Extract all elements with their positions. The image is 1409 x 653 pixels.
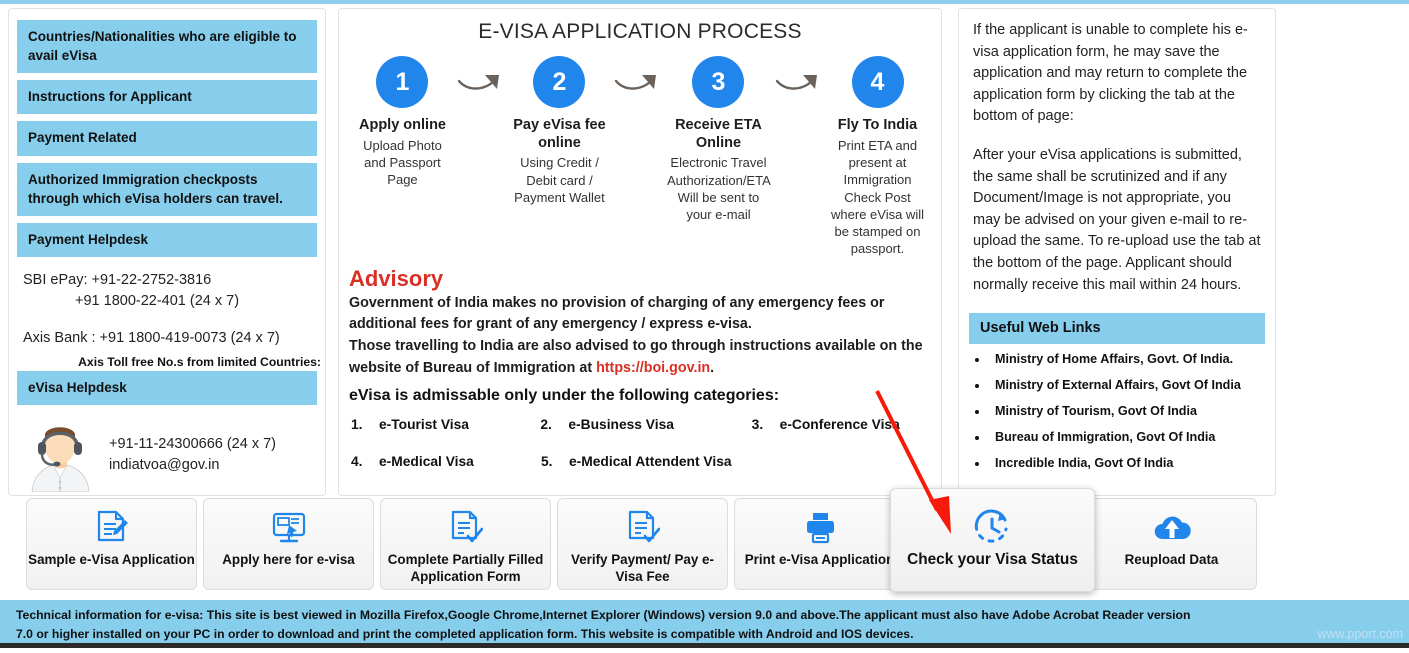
card-label: Print e-Visa Application	[745, 551, 895, 568]
step-title: Apply online	[353, 117, 452, 135]
evisa-home-page: Countries/Nationalities who are eligible…	[0, 0, 1409, 653]
sidebar-item-eligible-countries[interactable]: Countries/Nationalities who are eligible…	[17, 20, 317, 73]
advisory-paragraph-2-post: .	[710, 360, 714, 376]
technical-info-line-1: Technical information for e-visa: This s…	[16, 606, 1397, 625]
categories-row-2: 4. e-Medical Visa 5. e-Medical Attendent…	[351, 454, 941, 469]
printer-icon	[803, 510, 837, 546]
save-application-note: If the applicant is unable to complete h…	[959, 9, 1275, 128]
step-title: Pay eVisa fee online	[510, 117, 609, 152]
category-label: e-Medical Attendent Visa	[569, 454, 732, 469]
sidebar-item-instructions[interactable]: Instructions for Applicant	[17, 80, 317, 114]
category-number: 2.	[540, 417, 568, 432]
category-number: 1.	[351, 417, 379, 432]
evisa-helpdesk-email[interactable]: indiatvoa@gov.in	[109, 455, 276, 476]
footer-bar: Technical information for e-visa: This s…	[0, 600, 1409, 648]
card-label: Complete Partially Filled Application Fo…	[381, 551, 550, 586]
card-label: Sample e-Visa Application	[28, 551, 195, 568]
card-apply-here-for-evisa[interactable]: Apply here for e-visa	[203, 498, 374, 590]
clock-refresh-icon	[972, 509, 1014, 545]
categories-row-1: 1. e-Tourist Visa 2. e-Business Visa 3. …	[351, 417, 941, 432]
categories-heading: eVisa is admissable only under the follo…	[339, 380, 941, 405]
step-description: Print ETA and present at Immigration Che…	[828, 137, 927, 258]
category-label: e-Business Visa	[568, 417, 674, 432]
card-print-evisa-application[interactable]: Print e-Visa Application	[734, 498, 905, 590]
evisa-helpdesk-phone: +91-11-24300666 (24 x 7)	[109, 434, 276, 455]
boi-website-link[interactable]: https://boi.gov.in	[596, 360, 710, 376]
top-accent-bar	[0, 0, 1409, 4]
sidebar-nav-list: Countries/Nationalities who are eligible…	[9, 9, 325, 257]
cloud-upload-icon	[1152, 510, 1192, 546]
document-pencil-icon	[95, 510, 129, 546]
category-item-2: 2. e-Business Visa	[540, 417, 751, 432]
left-sidebar-panel: Countries/Nationalities who are eligible…	[8, 8, 326, 496]
payment-helpdesk-details: SBI ePay: +91-22-2752-3816 +91 1800-22-4…	[9, 264, 325, 349]
useful-web-links-list: Ministry of Home Affairs, Govt. Of India…	[959, 344, 1275, 470]
category-label: e-Medical Visa	[379, 454, 474, 469]
scrutiny-note: After your eVisa applications is submitt…	[959, 145, 1275, 296]
card-complete-partially-filled-form[interactable]: Complete Partially Filled Application Fo…	[380, 498, 551, 590]
arrow-curve-icon-1	[452, 56, 510, 101]
technical-info-text: Technical information for e-visa: This s…	[0, 600, 1409, 644]
support-agent-avatar-icon	[23, 418, 97, 488]
advisory-paragraph-1: Government of India makes no provision o…	[349, 295, 884, 333]
sbi-epay-phone: SBI ePay: +91-22-2752-3816	[23, 270, 315, 291]
evisa-helpdesk-text: +91-11-24300666 (24 x 7) indiatvoa@gov.i…	[97, 418, 276, 476]
arrow-curve-icon-3	[770, 56, 828, 101]
category-number: 4.	[351, 454, 379, 469]
process-step-1: 1 Apply online Upload Photo and Passport…	[353, 56, 452, 189]
sidebar-item-evisa-helpdesk[interactable]: eVisa Helpdesk	[17, 371, 317, 405]
web-link-item[interactable]: Bureau of Immigration, Govt Of India	[989, 431, 1275, 445]
category-number: 3.	[752, 417, 780, 432]
card-label: Verify Payment/ Pay e-Visa Fee	[558, 551, 727, 586]
category-label: e-Conference Visa	[780, 417, 900, 432]
sbi-epay-tollfree: +91 1800-22-401 (24 x 7)	[23, 291, 315, 312]
category-item-4: 4. e-Medical Visa	[351, 454, 541, 469]
process-step-3: 3 Receive ETA Online Electronic Travel A…	[667, 56, 770, 224]
sidebar-item-payment-related[interactable]: Payment Related	[17, 121, 317, 155]
process-step-4: 4 Fly To India Print ETA and present at …	[828, 56, 927, 258]
card-label: Check your Visa Status	[907, 550, 1078, 570]
document-check-icon	[449, 510, 483, 546]
category-item-1: 1. e-Tourist Visa	[351, 417, 540, 432]
card-check-your-visa-status[interactable]: Check your Visa Status	[890, 488, 1095, 592]
card-label: Apply here for e-visa	[222, 551, 354, 568]
spacer	[23, 312, 315, 328]
process-steps: 1 Apply online Upload Photo and Passport…	[339, 44, 941, 258]
visa-categories-list: 1. e-Tourist Visa 2. e-Business Visa 3. …	[339, 405, 941, 469]
step-description: Electronic Travel Authorization/ETA Will…	[667, 154, 770, 223]
sidebar-item-checkposts[interactable]: Authorized Immigration checkposts throug…	[17, 163, 317, 216]
category-label: e-Tourist Visa	[379, 417, 469, 432]
web-link-item[interactable]: Incredible India, Govt Of India	[989, 457, 1275, 471]
step-title: Fly To India	[828, 117, 927, 135]
web-link-item[interactable]: Ministry of External Affairs, Govt Of In…	[989, 379, 1275, 393]
web-link-item[interactable]: Ministry of Home Affairs, Govt. Of India…	[989, 353, 1275, 367]
card-label: Reupload Data	[1125, 551, 1219, 568]
advisory-text: Government of India makes no provision o…	[339, 293, 941, 380]
card-verify-payment-pay-fee[interactable]: Verify Payment/ Pay e-Visa Fee	[557, 498, 728, 590]
arrow-curve-icon-2	[609, 56, 667, 101]
monitor-cursor-icon	[271, 510, 307, 546]
step-number-badge: 4	[852, 56, 904, 108]
advisory-heading: Advisory	[339, 258, 941, 293]
axis-bank-phone: Axis Bank : +91 1800-419-0073 (24 x 7)	[23, 328, 315, 349]
spacer	[959, 128, 1275, 145]
category-item-3: 3. e-Conference Visa	[752, 417, 941, 432]
evisa-helpdesk-contact: +91-11-24300666 (24 x 7) indiatvoa@gov.i…	[9, 412, 325, 488]
right-info-panel: If the applicant is unable to complete h…	[958, 8, 1276, 496]
document-check-icon	[626, 510, 660, 546]
step-description: Upload Photo and Passport Page	[353, 137, 452, 189]
step-description: Using Credit / Debit card / Payment Wall…	[510, 154, 609, 206]
process-title: E-VISA APPLICATION PROCESS	[339, 9, 941, 44]
process-step-2: 2 Pay eVisa fee online Using Credit / De…	[510, 56, 609, 206]
main-content-panel: E-VISA APPLICATION PROCESS 1 Apply onlin…	[338, 8, 942, 496]
technical-info-line-2: 7.0 or higher installed on your PC in or…	[16, 625, 1397, 644]
step-title: Receive ETA Online	[667, 117, 770, 152]
category-number: 5.	[541, 454, 569, 469]
card-reupload-data[interactable]: Reupload Data	[1086, 498, 1257, 590]
web-link-item[interactable]: Ministry of Tourism, Govt Of India	[989, 405, 1275, 419]
sidebar-item-payment-helpdesk[interactable]: Payment Helpdesk	[17, 223, 317, 257]
step-number-badge: 3	[692, 56, 744, 108]
category-item-5: 5. e-Medical Attendent Visa	[541, 454, 753, 469]
useful-web-links-header: Useful Web Links	[969, 313, 1265, 344]
action-card-row: Sample e-Visa Application Apply here for…	[0, 498, 1409, 596]
card-sample-evisa-application[interactable]: Sample e-Visa Application	[26, 498, 197, 590]
watermark-text: www.pport.com	[1318, 627, 1403, 641]
step-number-badge: 1	[376, 56, 428, 108]
axis-tollfree-note: Axis Toll free No.s from limited Countri…	[9, 351, 325, 369]
step-number-badge: 2	[533, 56, 585, 108]
